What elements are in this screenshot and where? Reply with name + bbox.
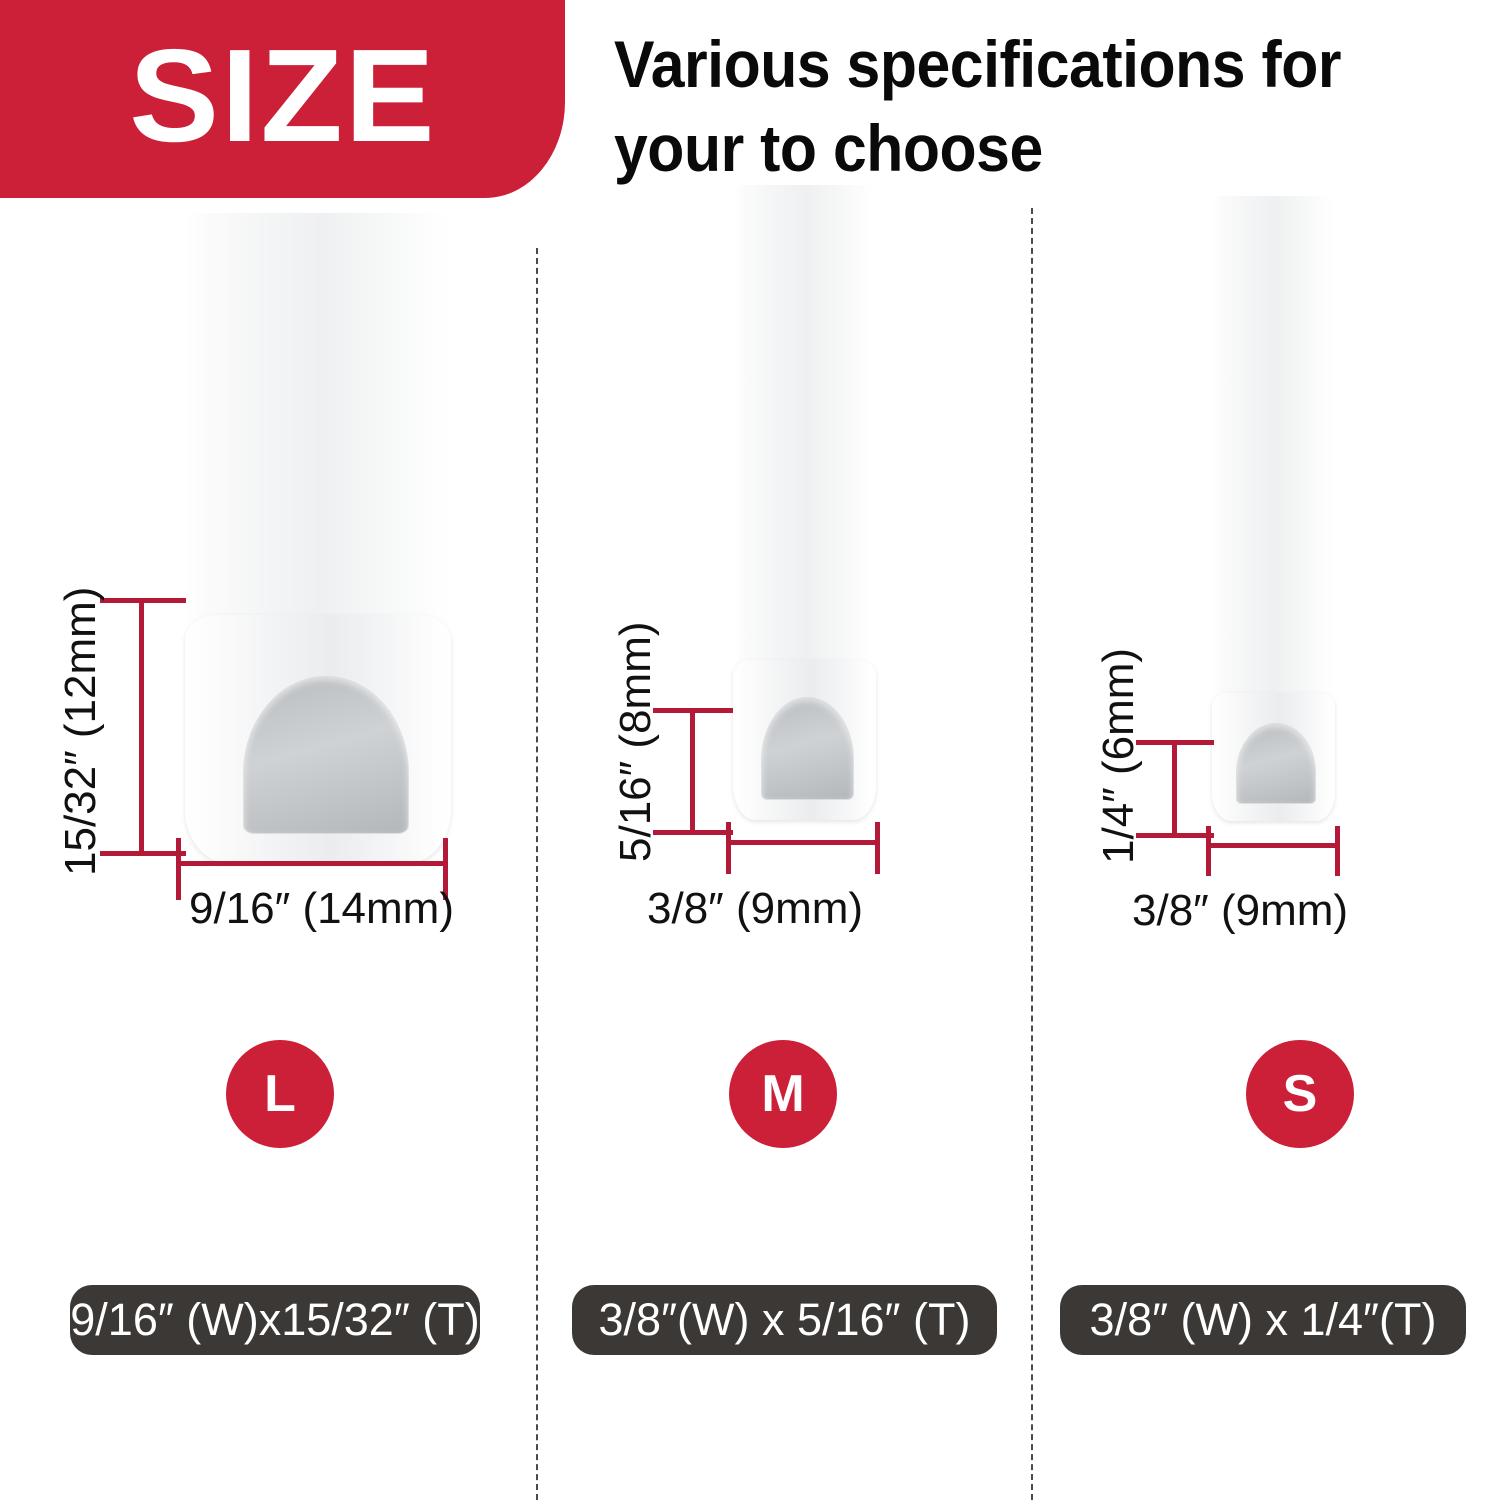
size-badge-medium[interactable]: M [729,1040,837,1148]
seal-strip-body-medium [733,185,876,691]
spec-pill-medium: 3/8″(W) x 5/16″ (T) [572,1285,997,1355]
dimension-width-label-medium: 3/8″ (9mm) [647,884,863,934]
column-large: 15/32″ (12mm) 9/16″ (14mm) L 9/16″ (W)x1… [0,0,536,1500]
dimension-width-line-medium [728,840,879,845]
size-badge-small[interactable]: S [1246,1040,1354,1148]
dimension-height-cap-top-small [1136,740,1214,745]
dimension-height-label-small: 1/4″ (6mm) [1094,648,1144,864]
dimension-width-cap-right-medium [875,822,880,874]
dimension-width-cap-right-small [1335,826,1340,876]
column-medium: 5/16″ (8mm) 3/8″ (9mm) M 3/8″(W) x 5/16″… [537,0,1031,1500]
size-badge-large[interactable]: L [226,1040,334,1148]
dimension-height-line-medium [690,710,695,833]
dimension-height-cap-bottom-medium [653,830,733,835]
seal-profile-end-small [1212,693,1335,821]
dimension-width-line-large [178,861,446,866]
size-chart-page: SIZE Various specifications for your to … [0,0,1491,1500]
dimension-width-label-large: 9/16″ (14mm) [189,884,454,934]
seal-bore-small [1237,724,1316,803]
seal-strip-medium [733,185,876,691]
seal-strip-small [1212,196,1335,716]
dimension-height-cap-bottom-large [100,851,186,856]
dimension-height-cap-top-medium [653,708,733,713]
dimension-height-label-medium: 5/16″ (8mm) [611,621,661,862]
dimension-width-cap-left-large [176,838,181,900]
dimension-height-line-large [139,600,144,854]
dimension-height-line-small [1172,742,1177,836]
dimension-height-cap-top-large [100,598,186,603]
seal-strip-body-small [1212,196,1335,716]
dimension-height-label-large: 15/32″ (12mm) [56,587,106,876]
dimension-width-cap-left-small [1206,826,1211,876]
seal-bore-large [244,677,409,833]
spec-pill-large: 9/16″ (W)x15/32″ (T) [70,1285,480,1355]
seal-strip-large [185,213,451,653]
spec-pill-small: 3/8″ (W) x 1/4″(T) [1060,1285,1466,1355]
dimension-width-cap-left-medium [726,822,731,874]
seal-profile-end-large [185,615,451,863]
dimension-width-label-small: 3/8″ (9mm) [1132,886,1348,936]
column-small: 1/4″ (6mm) 3/8″ (9mm) S 3/8″ (W) x 1/4″(… [1032,0,1491,1500]
seal-bore-medium [762,698,854,799]
seal-profile-end-medium [733,660,876,820]
seal-strip-body-large [185,213,451,653]
dimension-width-line-small [1208,843,1339,848]
dimension-height-cap-bottom-small [1136,833,1214,838]
